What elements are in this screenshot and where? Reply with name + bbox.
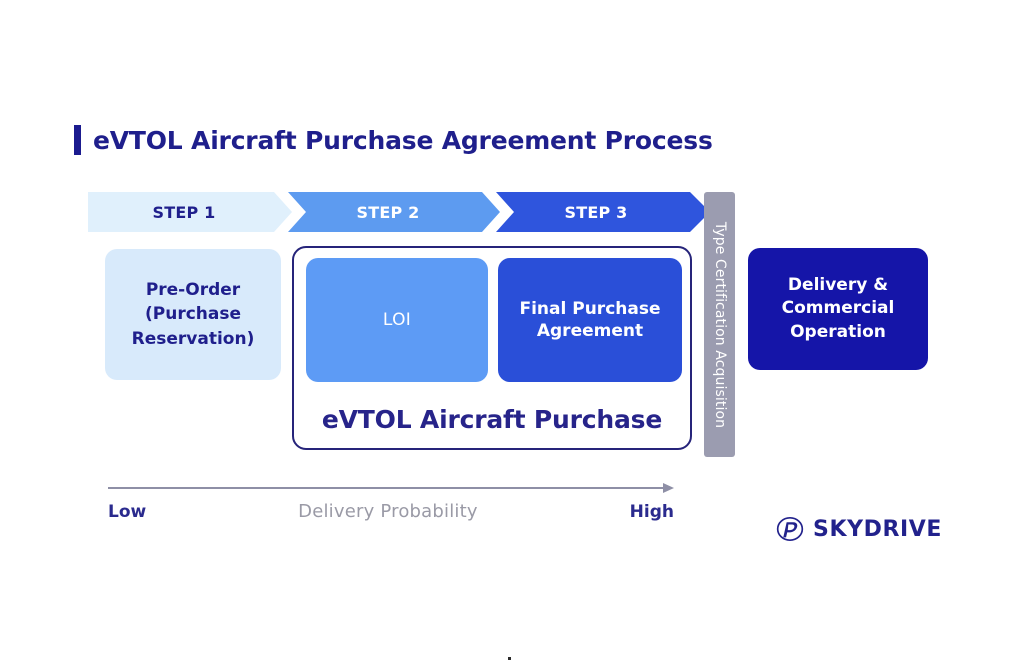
preorder-line-2: (Purchase: [132, 302, 255, 327]
stage-card-final-purchase-agreement[interactable]: Final Purchase Agreement: [498, 258, 682, 382]
group-cards-row: LOI Final Purchase Agreement: [306, 258, 682, 382]
preorder-line-1: Pre-Order: [132, 278, 255, 303]
step-3-label: STEP 3: [565, 203, 628, 222]
axis-mid-label: Delivery Probability: [298, 501, 478, 522]
delivery-line-3: Operation: [782, 321, 895, 344]
axis-label-row: Low Delivery Probability High: [108, 501, 674, 522]
slide-canvas: eVTOL Aircraft Purchase Agreement Proces…: [0, 0, 1024, 664]
step-1-label: STEP 1: [153, 203, 216, 222]
fpa-text: Final Purchase Agreement: [519, 298, 660, 343]
step-chevron-3[interactable]: STEP 3: [496, 192, 710, 232]
type-certification-label: Type Certification Acquisition: [712, 221, 728, 427]
skydrive-roundel-icon: [776, 515, 804, 543]
axis-high-label: High: [630, 502, 674, 522]
step-chevron-2[interactable]: STEP 2: [288, 192, 500, 232]
axis-low-label: Low: [108, 502, 146, 522]
loi-label: LOI: [383, 310, 411, 330]
title-accent-bar: [74, 125, 81, 155]
evtol-purchase-group: LOI Final Purchase Agreement eVTOL Aircr…: [292, 246, 692, 450]
stage-card-loi[interactable]: LOI: [306, 258, 488, 382]
step-chevron-1[interactable]: STEP 1: [88, 192, 292, 232]
title-text: eVTOL Aircraft Purchase Agreement Proces…: [93, 126, 713, 155]
fpa-line-1: Final Purchase: [519, 298, 660, 320]
page-title: eVTOL Aircraft Purchase Agreement Proces…: [74, 122, 713, 158]
step-chevron-bar: STEP 1 STEP 2 STEP 3: [88, 192, 710, 232]
axis-line: [108, 487, 664, 489]
delivery-probability-axis: [108, 487, 674, 489]
stage-card-delivery[interactable]: Delivery & Commercial Operation: [748, 248, 928, 370]
step-2-label: STEP 2: [357, 203, 420, 222]
page-marker-dot: [508, 657, 511, 660]
skydrive-logo: SKYDRIVE: [776, 515, 942, 543]
preorder-text: Pre-Order (Purchase Reservation): [132, 278, 255, 352]
axis-arrow-icon: [663, 483, 674, 493]
delivery-text: Delivery & Commercial Operation: [782, 274, 895, 343]
delivery-line-2: Commercial: [782, 297, 895, 320]
fpa-line-2: Agreement: [519, 320, 660, 342]
preorder-line-3: Reservation): [132, 327, 255, 352]
stage-card-preorder[interactable]: Pre-Order (Purchase Reservation): [105, 249, 281, 380]
group-label: eVTOL Aircraft Purchase: [294, 405, 690, 434]
delivery-line-1: Delivery &: [782, 274, 895, 297]
skydrive-wordmark: SKYDRIVE: [813, 517, 942, 542]
type-certification-bar: Type Certification Acquisition: [704, 192, 735, 457]
